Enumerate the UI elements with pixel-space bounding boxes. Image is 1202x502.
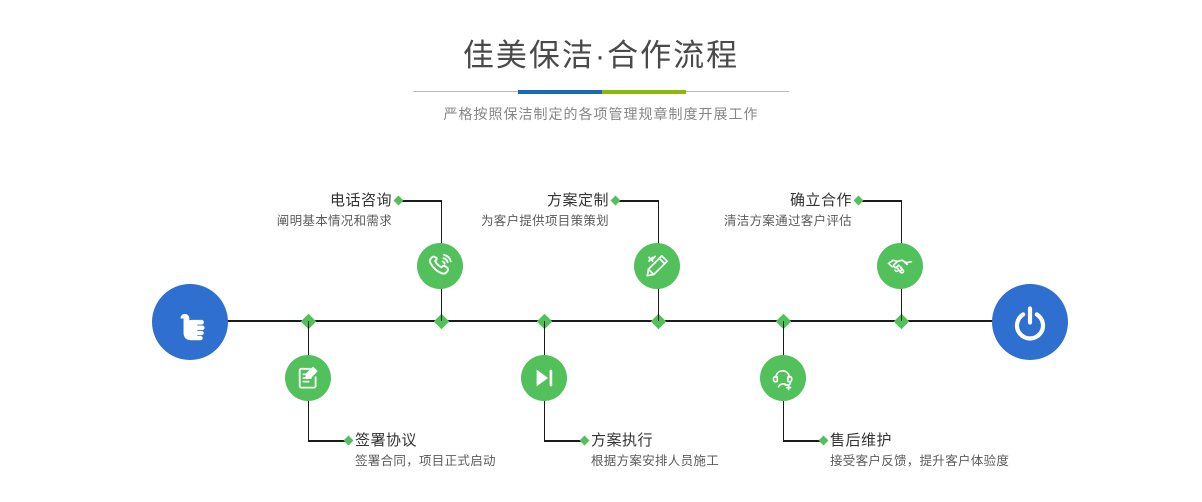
connector-horizontal-5	[859, 200, 901, 202]
label-marker-2	[344, 436, 354, 446]
label-marker-5	[854, 196, 864, 206]
step-title-6: 售后维护	[830, 430, 1009, 451]
timeline-end-node[interactable]	[992, 284, 1068, 360]
step-title-4: 方案执行	[591, 430, 719, 451]
step-icon-3[interactable]	[634, 243, 680, 289]
flow-diagram-canvas: 佳美保洁·合作流程 严格按照保洁制定的各项管理规章制度开展工作	[0, 0, 1202, 502]
divider-green-segment	[602, 90, 686, 94]
label-marker-6	[819, 436, 829, 446]
step-title-5: 确立合作	[580, 190, 852, 211]
step-icon-1[interactable]	[417, 243, 463, 289]
step-desc-6: 接受客户反馈，提升客户体验度	[830, 452, 1009, 471]
divider-blue-segment	[518, 90, 602, 94]
step-title-2: 签署协议	[355, 430, 496, 451]
step-label-4: 方案执行 根据方案安排人员施工	[591, 430, 719, 471]
skip-forward-icon	[530, 364, 558, 392]
step-icon-6[interactable]	[760, 355, 806, 401]
document-edit-icon	[294, 364, 322, 392]
step-label-5: 确立合作 清洁方案通过客户评估	[580, 190, 852, 231]
step-desc-2: 签署合同，项目正式启动	[355, 452, 496, 471]
pencil-edit-icon	[643, 252, 671, 280]
step-title-3: 方案定制	[330, 190, 609, 211]
step-label-6: 售后维护 接受客户反馈，提升客户体验度	[830, 430, 1009, 471]
handshake-icon	[886, 252, 914, 280]
step-label-2: 签署协议 签署合同，项目正式启动	[355, 430, 496, 471]
phone-call-icon	[426, 252, 454, 280]
label-marker-4	[580, 436, 590, 446]
page-header: 佳美保洁·合作流程 严格按照保洁制定的各项管理规章制度开展工作	[0, 34, 1202, 124]
header-divider	[413, 87, 789, 97]
customer-service-add-icon	[769, 364, 797, 392]
page-subtitle: 严格按照保洁制定的各项管理规章制度开展工作	[0, 104, 1202, 124]
pointing-hand-icon	[167, 299, 213, 345]
step-desc-4: 根据方案安排人员施工	[591, 452, 719, 471]
step-label-3: 方案定制 为客户提供项目策策划	[330, 190, 609, 231]
step-icon-5[interactable]	[877, 243, 923, 289]
power-icon	[1007, 299, 1053, 345]
step-icon-4[interactable]	[521, 355, 567, 401]
step-icon-2[interactable]	[285, 355, 331, 401]
step-desc-3: 为客户提供项目策策划	[330, 212, 609, 231]
step-desc-5: 清洁方案通过客户评估	[580, 212, 852, 231]
page-title: 佳美保洁·合作流程	[0, 34, 1202, 78]
timeline-start-node[interactable]	[152, 284, 228, 360]
